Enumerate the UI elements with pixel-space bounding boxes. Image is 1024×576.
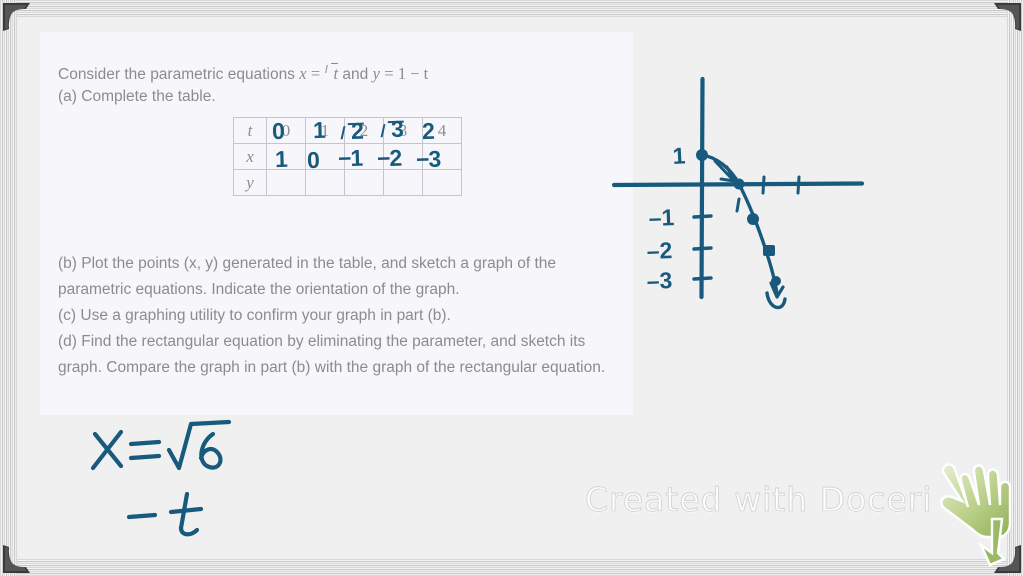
hand-pointer-icon [932,457,1024,567]
hw-digit-6 [201,434,220,468]
frame-border-top [0,0,1024,17]
y-label-minus-2: –2 [646,237,672,264]
hw-letter-t-stem [181,494,197,534]
doceri-whiteboard-screenshot: Consider the parametric equations x = t … [0,0,1024,576]
x-axis-tick-3 [798,177,799,193]
row-label-y: y [234,170,267,196]
ink-answer-x-4: 2 [422,120,434,143]
y-cell-3[interactable] [384,170,423,196]
y-axis [702,79,703,297]
point-1-0 [734,179,745,190]
y-cell-0[interactable] [267,170,306,196]
point-sqrt2-m1 [747,213,759,225]
problem-part-d: (d) Find the rectangular equation by eli… [58,329,628,381]
y-axis-tick-minus2 [694,248,711,249]
ink-answer-y-0: 1 [275,148,287,171]
problem-part-b: (b) Plot the points (x, y) generated in … [58,251,628,303]
radicand-t: t [334,64,339,83]
equation-x-equals: = [311,64,320,83]
parametric-curve [702,155,777,295]
row-label-x: x [234,144,267,170]
y-cell-2[interactable] [345,170,384,196]
equation-y-equals: = [384,64,393,83]
annotation-tick-below-axis [737,199,739,211]
whiteboard-canvas[interactable]: Consider the parametric equations x = t … [17,17,1007,559]
problem-part-c: (c) Use a graphing utility to confirm yo… [58,303,628,329]
hw-letter-t-cross [171,509,201,512]
x-axis-tick-2 [763,177,764,193]
ink-answer-y-3: −2 [377,147,402,171]
problem-statement-panel: Consider the parametric equations x = t … [40,32,633,415]
y-cell-1[interactable] [306,170,345,196]
ink-answer-y-2: −1 [338,147,363,171]
problem-part-a: (a) Complete the table. [58,84,216,110]
ink-answer-x-0: 0 [272,120,284,143]
ink-answer-x-1: 1 [313,119,325,142]
hand-drawn-graph: 1 –1 –2 –3 [587,47,887,317]
equation-y-rhs: 1 − t [398,64,428,83]
hw-minus-sign [129,515,155,517]
point-sqrt3-m2 [763,245,775,256]
y-axis-tick-minus3 [694,278,711,279]
y-label-1: 1 [672,142,686,169]
ink-answer-y-4: −3 [416,148,441,172]
frame-border-left [0,0,17,576]
ink-sqrt-3: 3 [380,118,403,142]
hw-equals-top [131,442,159,444]
hw-equals-bottom [131,456,159,458]
doceri-watermark: Created with Doceri [585,480,932,519]
equation-conjunction: and [342,66,368,83]
y-label-minus-1: –1 [648,204,675,231]
equation-x-lhs: x [299,64,306,83]
sqrt-t-radical: t [325,60,339,87]
point-2-m3 [771,276,781,286]
y-cell-4[interactable] [423,170,462,196]
ink-answer-x-3: 3 [380,118,403,142]
handwritten-work-area [77,412,357,542]
frame-border-bottom [0,559,1024,576]
ink-sqrt-2: 2 [340,120,363,144]
table-row-y: y [234,170,462,196]
point-0-1 [696,149,708,161]
y-label-minus-3: –3 [646,267,672,294]
ink-answer-y-1: 0 [307,149,319,172]
y-axis-tick-minus1 [694,216,711,217]
intro-prefix: Consider the parametric equations [58,66,295,83]
ink-answer-x-2: 2 [340,120,363,144]
row-label-t: t [234,118,267,144]
equation-y-lhs: y [373,64,380,83]
